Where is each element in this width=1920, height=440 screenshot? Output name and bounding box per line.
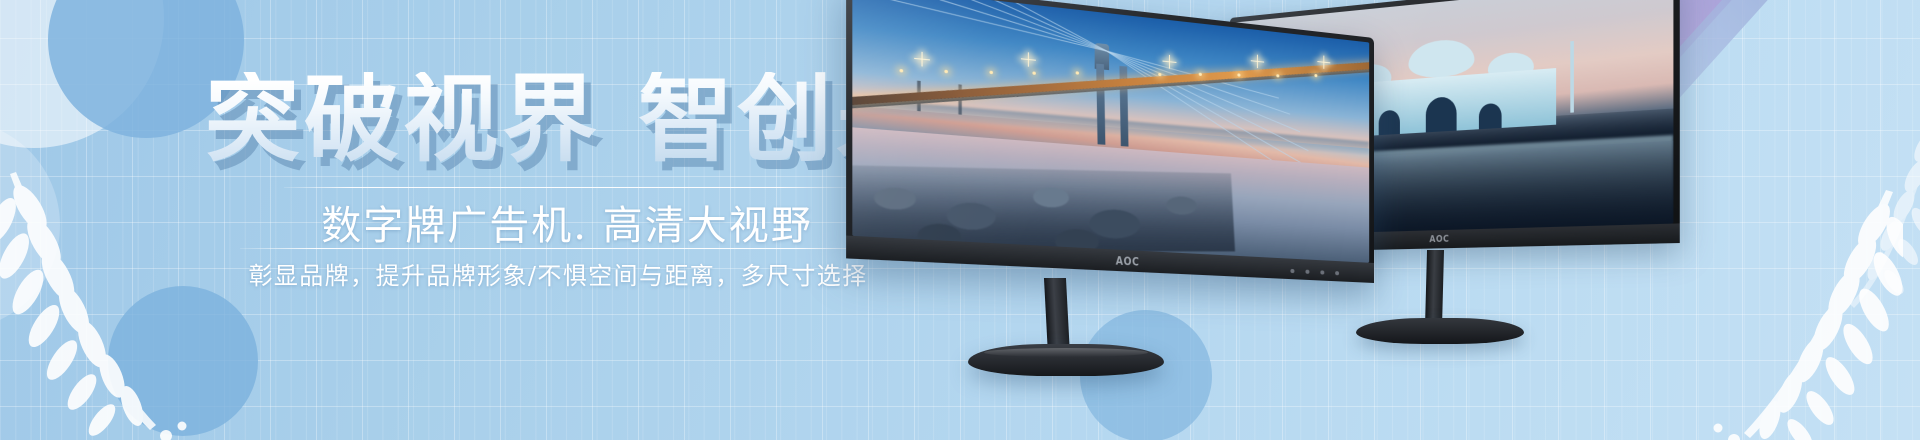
light-flare [1323, 55, 1324, 68]
banner-text-block: 突破视界 智创未来 突破视界 智创未来 数字牌广告机. 高清大视野 彰显品牌，提… [0, 0, 900, 440]
front-monitor-bezel: AOC [846, 0, 1374, 283]
promo-banner: 突破视界 智创未来 突破视界 智创未来 数字牌广告机. 高清大视野 彰显品牌，提… [0, 0, 1920, 440]
bridge-lamp [989, 70, 993, 74]
monitor-button[interactable] [1335, 271, 1339, 275]
front-monitor-screen [852, 0, 1369, 263]
mosque-dome-center [1409, 38, 1475, 80]
front-monitor-buttons[interactable] [1290, 269, 1339, 275]
light-flare [1169, 55, 1170, 69]
front-monitor: AOC [880, 38, 1400, 438]
banner-subtitle: 数字牌广告机. 高清大视野 [284, 193, 850, 251]
light-flare [922, 52, 923, 67]
product-images: AOC [880, 0, 1920, 440]
divider-bottom [240, 248, 874, 249]
bridge-lamp [1199, 73, 1202, 76]
monitor-button[interactable] [1290, 269, 1294, 273]
monitor-button[interactable] [1305, 270, 1309, 274]
aoc-logo-front: AOC [1116, 253, 1140, 268]
light-flare [1027, 52, 1028, 66]
bridge-lamp [1158, 72, 1161, 75]
rear-monitor-neck [1425, 250, 1444, 328]
divider-top [284, 187, 848, 188]
light-flare [1257, 55, 1258, 69]
aoc-logo-rear: AOC [1429, 234, 1449, 245]
front-monitor-base-highlight [984, 348, 1148, 357]
mosque-minaret-right [1571, 41, 1575, 113]
mosque-arch-center [1426, 97, 1457, 133]
bridge-pylon-left [1096, 64, 1105, 145]
monitor-button[interactable] [1320, 270, 1324, 274]
bridge-lamp [1276, 74, 1279, 77]
mosque-arch-right [1479, 103, 1502, 130]
banner-tagline: 彰显品牌，提升品牌形象/不惧空间与距离，多尺寸选择 [200, 256, 916, 291]
